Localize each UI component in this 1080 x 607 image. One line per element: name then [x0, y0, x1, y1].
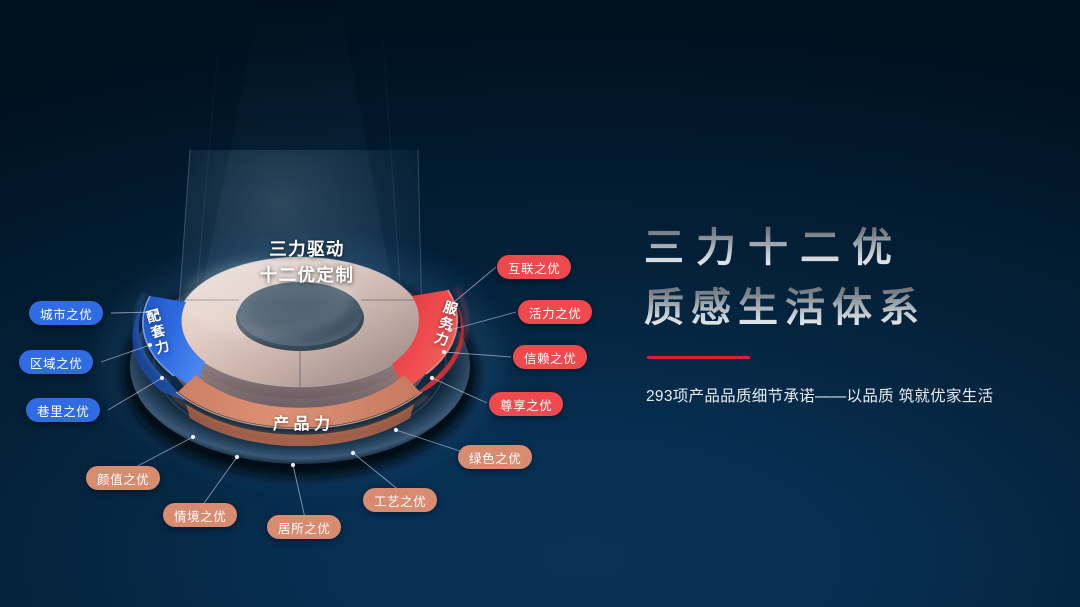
leaf-pill-zunxiang[interactable]: 尊享之优: [489, 392, 563, 416]
right-text-panel: 三力十二优 质感生活体系 293项产品品质细节承诺——以品质 筑就优家生活: [644, 218, 1064, 406]
leaf-pill-chengshi[interactable]: 城市之优: [29, 301, 103, 325]
leaf-pill-quyu[interactable]: 区域之优: [19, 350, 93, 374]
headline-line1: 三力十二优: [644, 218, 1064, 278]
leaf-pill-huoli[interactable]: 活力之优: [518, 300, 592, 324]
leaf-pill-lvse[interactable]: 绿色之优: [458, 445, 532, 469]
leaf-pill-qingjing[interactable]: 情境之优: [163, 503, 237, 527]
headline-line2: 质感生活体系: [644, 278, 1064, 338]
leaf-pill-xinlai[interactable]: 信赖之优: [513, 345, 587, 369]
leaf-pill-jusuo[interactable]: 居所之优: [267, 515, 341, 539]
leaf-pill-xiangli[interactable]: 巷里之优: [26, 398, 100, 422]
leaf-pill-yanzhi[interactable]: 颜值之优: [86, 466, 160, 490]
leaf-pill-gongyi[interactable]: 工艺之优: [363, 488, 437, 512]
slide-canvas: 三力驱动 十二优定制 配套力 服务力 产品力 城市之优 区域之优 巷里之优 互联…: [0, 0, 1080, 607]
sub-headline: 293项产品品质细节承诺——以品质 筑就优家生活: [646, 384, 1064, 406]
headline-divider: [647, 356, 750, 359]
leaf-pill-hulian[interactable]: 互联之优: [497, 255, 571, 279]
glass-cylinder: [178, 150, 422, 387]
